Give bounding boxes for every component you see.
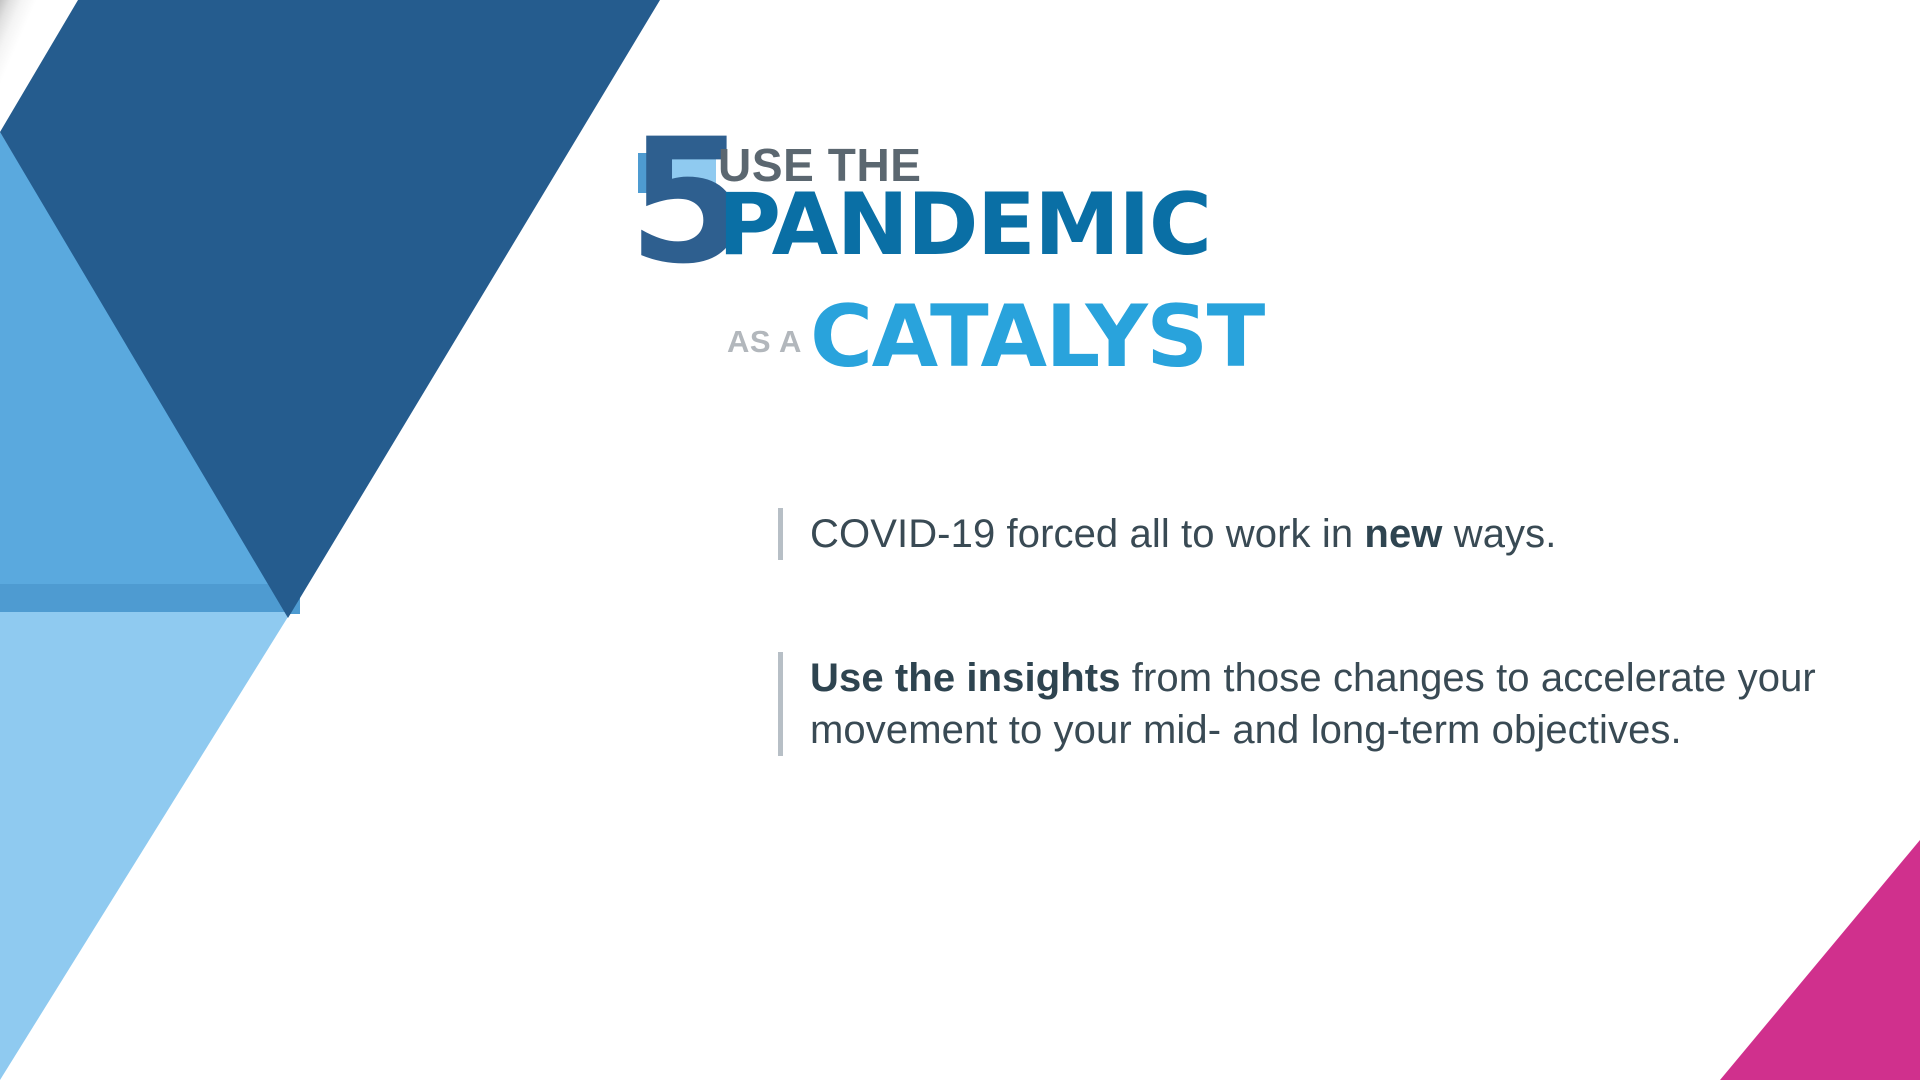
blue-strip-shape — [0, 584, 300, 614]
title-headline-secondary: CATALYST — [810, 294, 1264, 380]
title-row-primary: 5 USE THE PANDEMIC — [612, 140, 1612, 218]
magenta-triangle-shape — [1720, 840, 1920, 1080]
pale-triangle-shadow — [0, 612, 420, 1080]
slide-title-block: 5 USE THE PANDEMIC AS A CATALYST — [612, 140, 1612, 218]
navy-polygon-edge-shadow — [0, 0, 700, 660]
mid-blue-triangle-shape — [0, 132, 300, 612]
title-connector: AS A — [727, 326, 802, 357]
bullet-accent-rule — [778, 652, 783, 756]
title-row-secondary: AS A CATALYST — [612, 308, 1612, 398]
bullet-item: Use the insights from those changes to a… — [778, 652, 1838, 756]
bullet-accent-rule — [778, 508, 783, 560]
slide-body-block: COVID-19 forced all to work in new ways.… — [778, 508, 1838, 756]
bullet-item: COVID-19 forced all to work in new ways. — [778, 508, 1838, 560]
bullet-text: COVID-19 forced all to work in new ways. — [810, 508, 1838, 560]
pale-blue-triangle-shape — [0, 612, 400, 1080]
bullet-text: Use the insights from those changes to a… — [810, 652, 1838, 756]
title-headline: PANDEMIC — [718, 182, 1211, 268]
slide-canvas: 5 USE THE PANDEMIC AS A CATALYST COVID-1… — [0, 0, 1920, 1080]
navy-polygon-shape — [0, 0, 700, 640]
slide-number-badge: 5 — [612, 140, 716, 310]
